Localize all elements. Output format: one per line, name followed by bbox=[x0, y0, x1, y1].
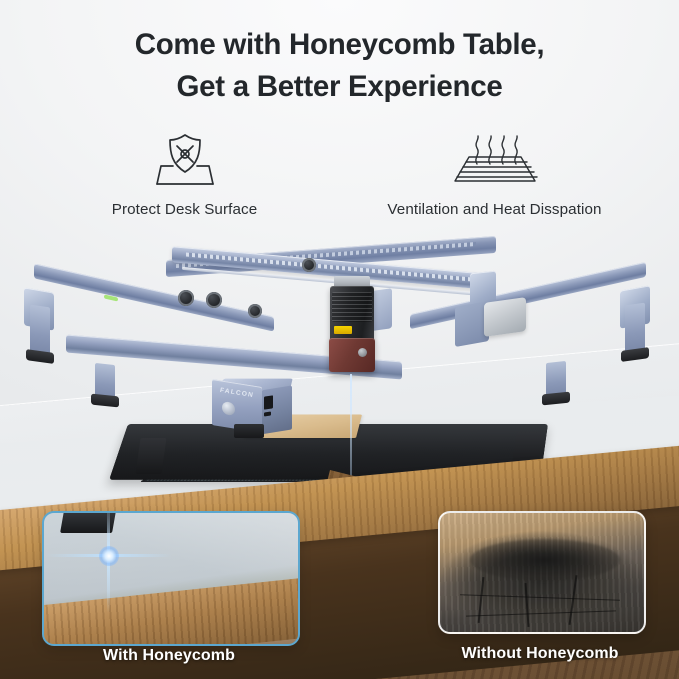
laser-flare-icon bbox=[108, 555, 110, 557]
laser-warning-label bbox=[334, 326, 352, 334]
frame-leg-front-left bbox=[95, 363, 115, 399]
panel-wood-floor bbox=[42, 576, 300, 646]
control-box-side bbox=[260, 385, 292, 434]
shield-desk-icon bbox=[148, 129, 222, 189]
char-crack bbox=[524, 583, 529, 627]
feature-label-heat-dissipation: Ventilation and Heat Disspation bbox=[387, 201, 601, 218]
heat-grate-icon bbox=[447, 129, 543, 189]
frame-leg-back-left bbox=[30, 305, 50, 356]
control-box-foot bbox=[234, 424, 264, 438]
feature-item-protect-desk: Protect Desk Surface bbox=[50, 129, 320, 218]
frame-leg-back-right bbox=[625, 303, 645, 354]
flare-core bbox=[99, 546, 119, 566]
belt-pulley-2 bbox=[206, 292, 222, 308]
feature-item-heat-dissipation: Ventilation and Heat Disspation bbox=[360, 129, 630, 218]
comparison-panel-with-honeycomb bbox=[42, 511, 300, 646]
comparison-label-without-honeycomb: Without Honeycomb bbox=[438, 645, 642, 663]
headline-line-1: Come with Honeycomb Table, bbox=[135, 28, 545, 61]
laser-lens-housing bbox=[329, 338, 375, 372]
headline: Come with Honeycomb Table, Get a Better … bbox=[0, 24, 679, 108]
feature-label-protect-desk: Protect Desk Surface bbox=[112, 201, 258, 218]
headline-line-2: Get a Better Experience bbox=[0, 66, 679, 108]
laser-module bbox=[330, 276, 374, 376]
comparison-panel-without-honeycomb bbox=[438, 511, 646, 634]
char-crack bbox=[569, 575, 578, 625]
control-port-primary bbox=[264, 395, 273, 409]
product-marketing-image: Come with Honeycomb Table, Get a Better … bbox=[0, 0, 679, 679]
char-crack bbox=[460, 594, 620, 601]
honeycomb-foot-left bbox=[135, 438, 166, 474]
feature-list: Protect Desk Surface Ventilation and Hea… bbox=[0, 129, 679, 218]
laser-cooling-fins bbox=[332, 292, 372, 322]
belt-pulley-4 bbox=[302, 258, 316, 272]
belt-pulley-3 bbox=[248, 304, 262, 318]
stepper-motor bbox=[484, 297, 526, 337]
laser-focus-knob bbox=[358, 348, 367, 357]
char-burn-blob bbox=[470, 539, 620, 581]
belt-pulley-1 bbox=[178, 290, 194, 306]
frame-leg-front-right bbox=[546, 361, 566, 397]
char-crack bbox=[466, 610, 616, 617]
comparison-label-with-honeycomb: With Honeycomb bbox=[42, 647, 296, 665]
control-box: FALCON bbox=[212, 370, 292, 428]
